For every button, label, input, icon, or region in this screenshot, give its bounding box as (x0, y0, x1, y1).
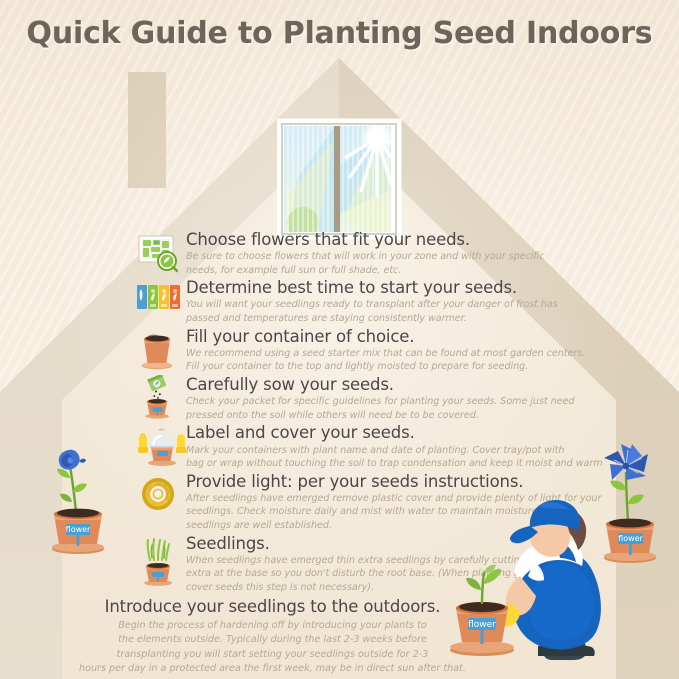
conclusion-block: Introduce your seedlings to the outdoors… (0, 597, 545, 676)
step-body: We recommend using a seed starter mix th… (186, 347, 581, 374)
step-item: Choose flowers that fit your needs. Be s… (136, 230, 581, 277)
conclusion-heading: Introduce your seedlings to the outdoors… (0, 597, 545, 617)
rose-bloom (59, 450, 86, 470)
step-heading: Provide light: per your seeds instructio… (186, 472, 581, 491)
pot-label-text: flower (66, 525, 91, 534)
page-title: Quick Guide to Planting Seed Indoors (0, 16, 679, 51)
window-mullion (334, 126, 340, 232)
seasonal-calendar-icon (136, 278, 180, 322)
seed-packet-sowing-icon (136, 375, 180, 419)
sun-light-icon (136, 472, 180, 516)
window-pane-left (284, 126, 334, 239)
glove-left (138, 434, 148, 453)
step-item: Determine best time to start your seeds.… (136, 278, 581, 325)
step-heading: Determine best time to start your seeds. (186, 278, 581, 297)
gloves-covered-pot-icon (136, 423, 188, 467)
step-body: You will want your seedlings ready to tr… (186, 298, 581, 325)
step-heading: Label and cover your seeds. (186, 423, 581, 442)
step-heading: Choose flowers that fit your needs. (186, 230, 581, 249)
step-heading: Fill your container of choice. (186, 327, 581, 346)
step-item: Label and cover your seeds. Mark your co… (136, 423, 581, 470)
seedlings-pot-icon (136, 534, 180, 586)
conclusion-body: Begin the process of hardening off by in… (0, 619, 545, 677)
infographic-canvas: Quick Guide to Planting Seed Indoors (0, 0, 679, 679)
seed-catalog-icon (136, 230, 180, 274)
potted-rose-left: flower (36, 416, 120, 556)
window-illustration (277, 118, 405, 240)
star-flower-bloom (604, 444, 648, 480)
step-body: Be sure to choose flowers that will work… (186, 250, 581, 277)
filled-pot-icon (136, 327, 180, 371)
step-heading: Carefully sow your seeds. (186, 375, 581, 394)
step-item: Carefully sow your seeds. Check your pac… (136, 375, 581, 422)
glove-right (176, 434, 186, 453)
step-item: Fill your container of choice. We recomm… (136, 327, 581, 374)
step-body: Check your packet for specific guideline… (186, 395, 581, 422)
step-body: Mark your containers with plant name and… (186, 444, 581, 471)
